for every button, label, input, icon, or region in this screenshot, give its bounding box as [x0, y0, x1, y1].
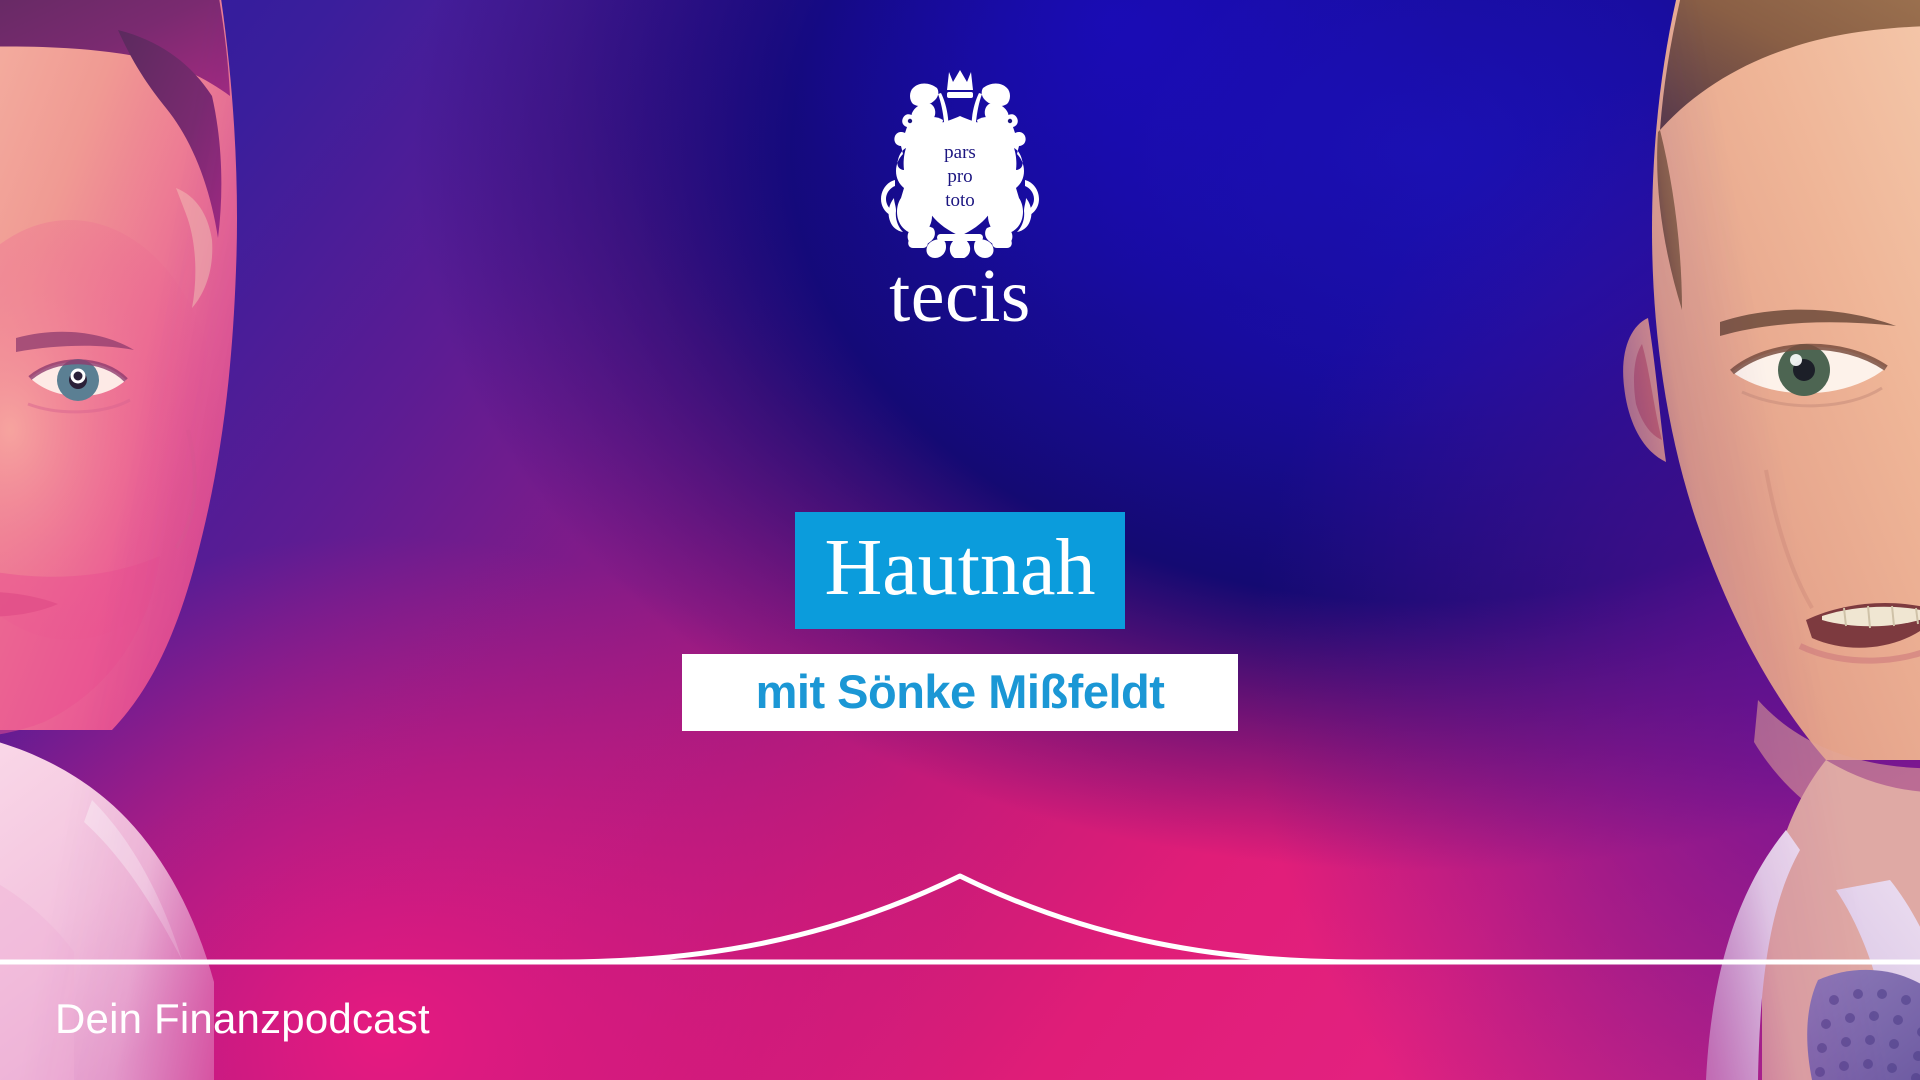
coat-of-arms-icon: pars pro toto	[865, 58, 1055, 258]
podcast-cover-canvas: pars pro toto tecis Hautnah mit Sönke Mi…	[0, 0, 1920, 1080]
tecis-logo: pars pro toto tecis	[0, 58, 1920, 332]
show-subtitle: mit Sönke Mißfeldt	[756, 668, 1165, 715]
crest-motto-line-1: pars	[944, 142, 976, 163]
show-title-box: Hautnah	[795, 512, 1125, 629]
audio-waveform-icon	[0, 820, 1920, 1000]
crest-motto-line-3: toto	[945, 190, 975, 211]
tecis-wordmark: tecis	[889, 260, 1031, 332]
show-title: Hautnah	[824, 528, 1095, 608]
footer-tagline: Dein Finanzpodcast	[55, 995, 430, 1043]
crest-motto-line-2: pro	[947, 166, 972, 187]
show-subtitle-box: mit Sönke Mißfeldt	[682, 654, 1238, 731]
